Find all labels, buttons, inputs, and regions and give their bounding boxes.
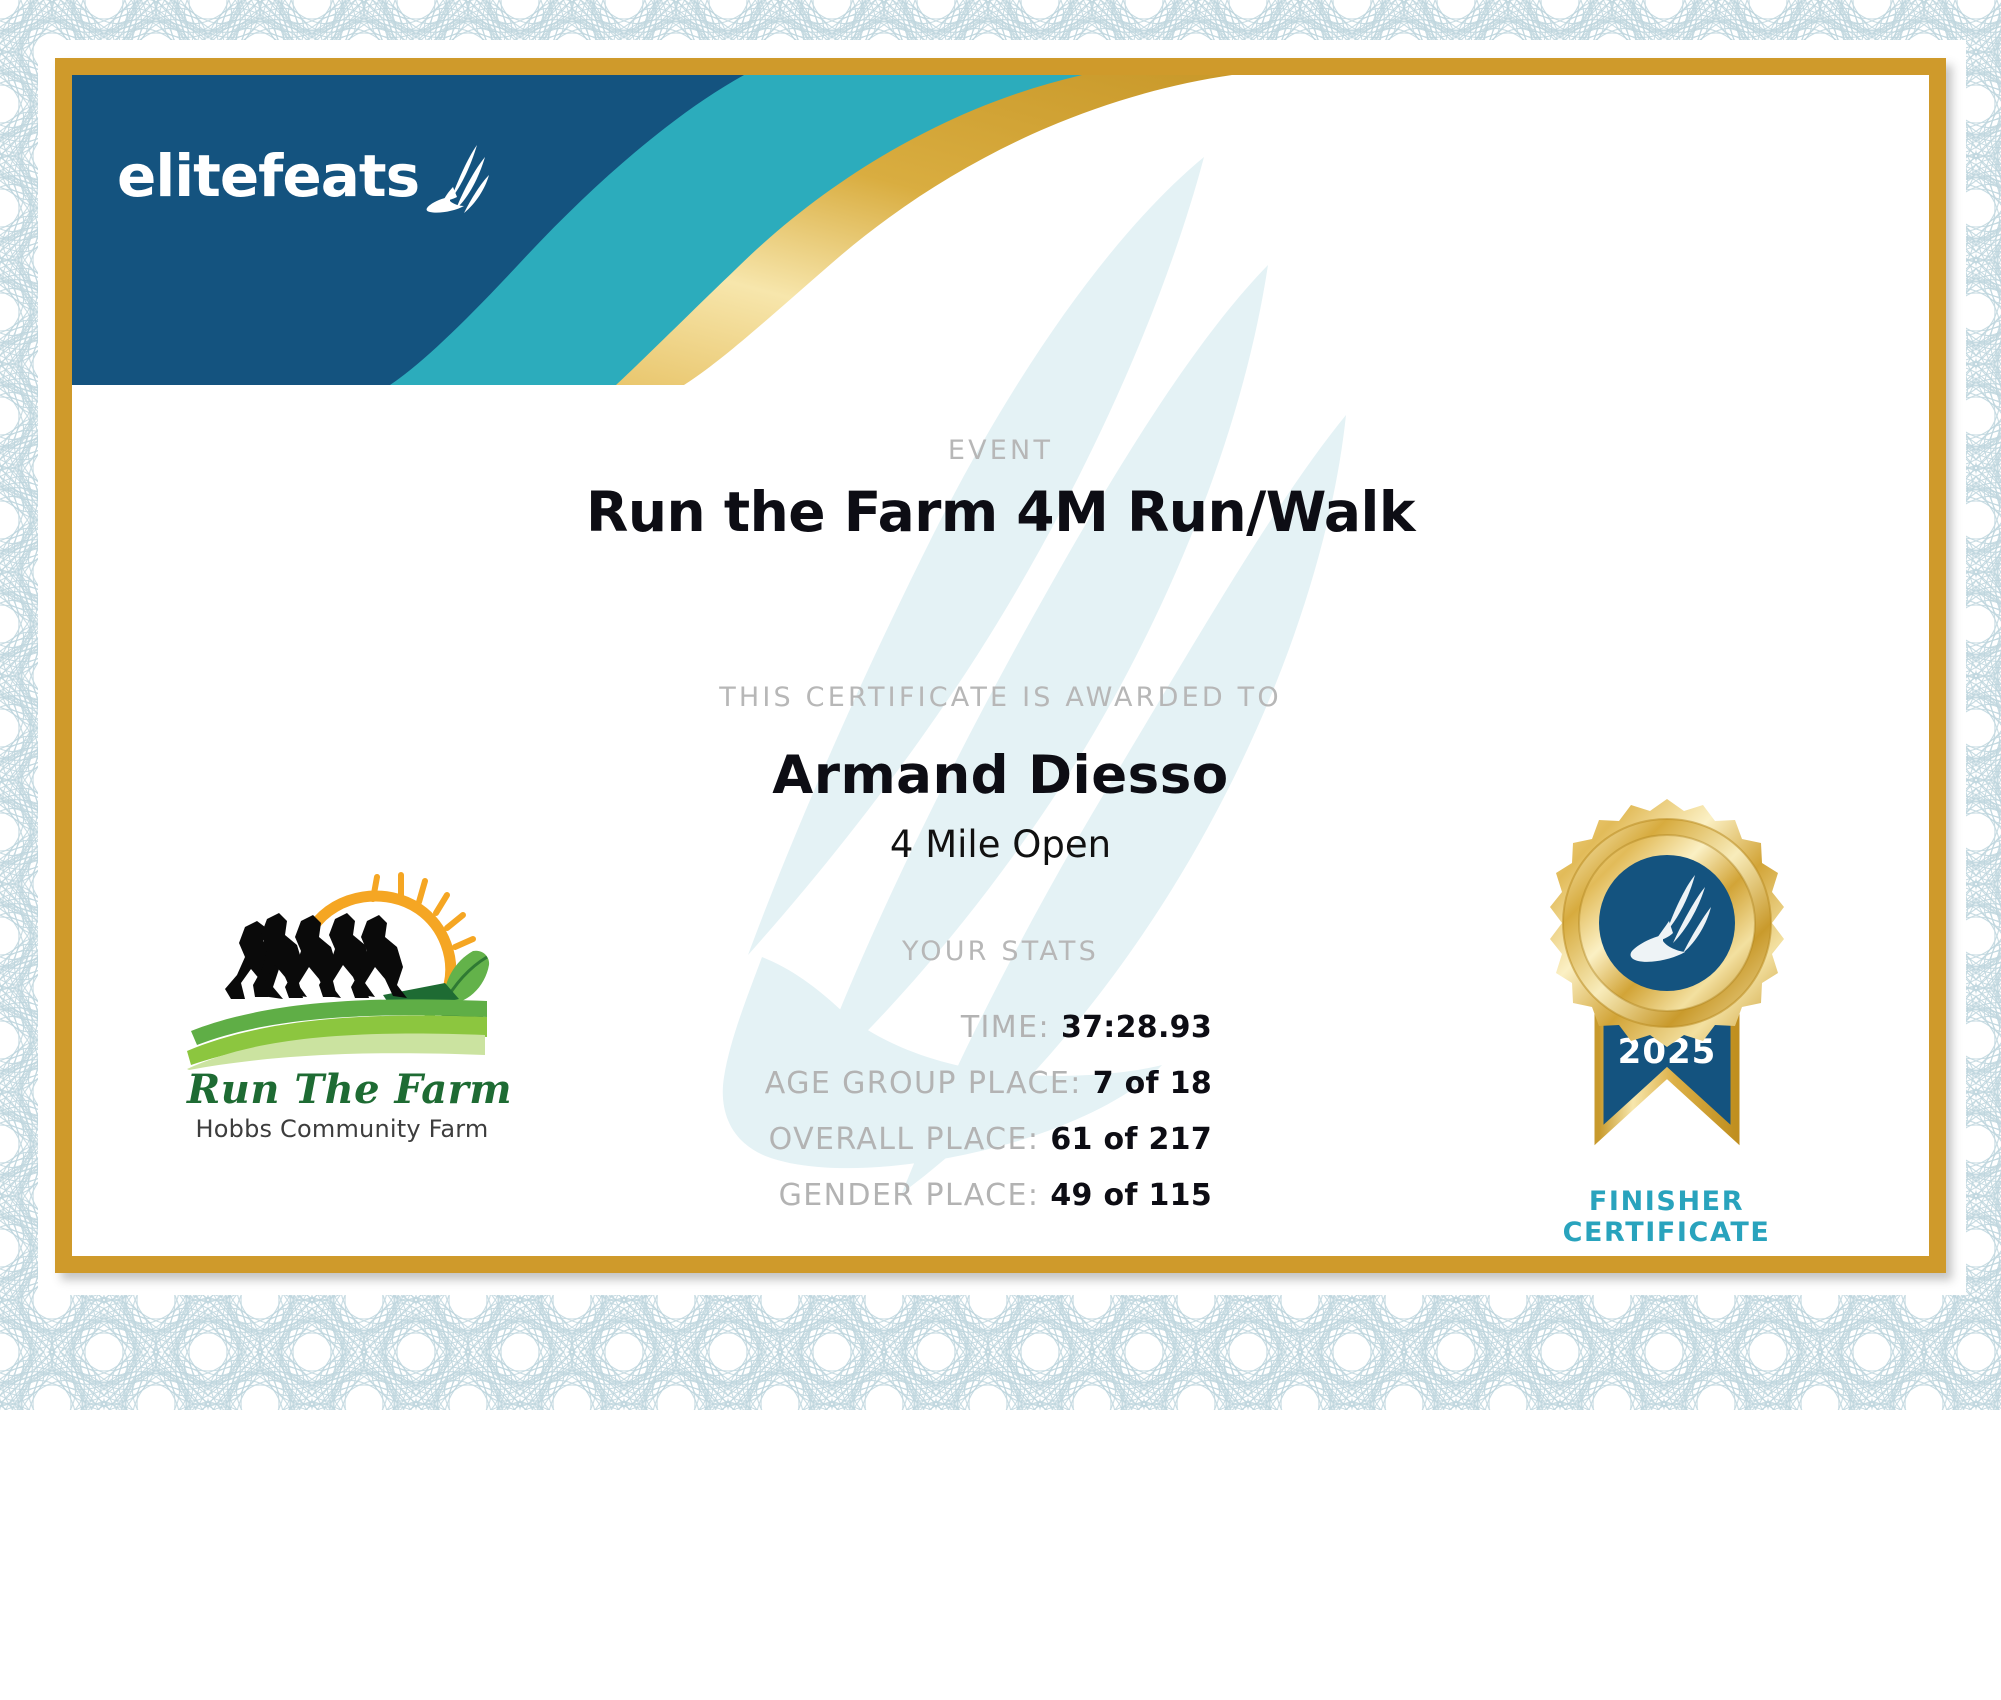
stat-value: 61 of 217 (1050, 1122, 1212, 1157)
event-logo-subtitle: Hobbs Community Farm (187, 1115, 497, 1143)
elitefeats-logo: elitefeats (117, 143, 491, 205)
stat-value: 7 of 18 (1093, 1066, 1212, 1101)
header-decorative-swoosh (72, 75, 1232, 385)
seal-caption-line2: CERTIFICATE (1509, 1218, 1824, 1249)
event-title: Run the Farm 4M Run/Walk (72, 480, 1929, 544)
winged-foot-icon (423, 143, 491, 215)
awarded-to-label: THIS CERTIFICATE IS AWARDED TO (72, 682, 1929, 713)
stat-label: TIME: (961, 1010, 1050, 1045)
seal-caption-line1: FINISHER (1509, 1187, 1824, 1218)
runners-sun-fields-icon (187, 865, 497, 1070)
elitefeats-wordmark: elitefeats (117, 147, 419, 205)
winged-foot-medal-icon: 2025 (1537, 795, 1797, 1185)
event-logo: Run The Farm Hobbs Community Farm (187, 865, 497, 1143)
stat-label: GENDER PLACE: (779, 1178, 1040, 1213)
stat-label: OVERALL PLACE: (769, 1122, 1040, 1157)
stat-value: 49 of 115 (1050, 1178, 1212, 1213)
certificate-page: elitefeats EVENT Run the Farm 4M Run/Wal… (0, 0, 2001, 1700)
finisher-seal: 2025 (1509, 795, 1824, 1249)
event-label: EVENT (72, 435, 1929, 466)
event-logo-title: Run The Farm (187, 1066, 497, 1113)
stat-value: 37:28.93 (1061, 1010, 1212, 1045)
seal-caption: FINISHER CERTIFICATE (1509, 1187, 1824, 1249)
stat-row-gender-place: GENDER PLACE: 49 of 115 (72, 1178, 1212, 1213)
stat-label: AGE GROUP PLACE: (765, 1066, 1082, 1101)
certificate-card: elitefeats EVENT Run the Farm 4M Run/Wal… (55, 58, 1946, 1273)
